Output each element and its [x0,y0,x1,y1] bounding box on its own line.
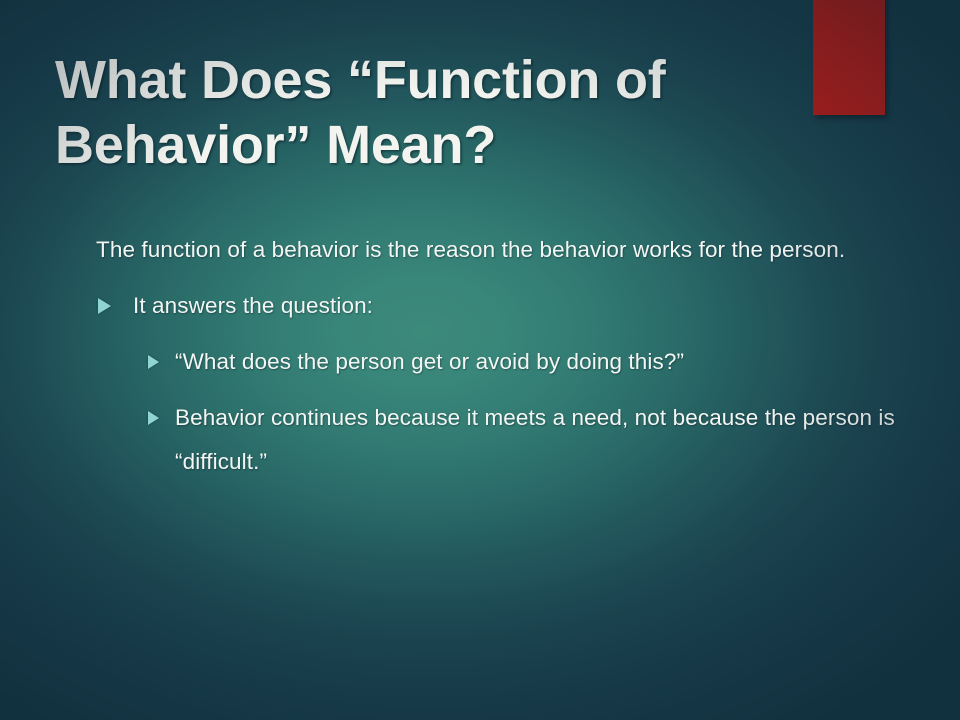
presentation-slide: What Does “Function of Behavior” Mean? T… [0,0,960,720]
triangle-bullet-icon [148,411,159,425]
bullet-text: It answers the question: [133,284,916,328]
bullet-item-what-does-person-get: “What does the person get or avoid by do… [148,340,916,384]
bullet-item-answers-question: It answers the question: [98,284,916,328]
slide-title: What Does “Function of Behavior” Mean? [55,48,815,178]
intro-paragraph: The function of a behavior is the reason… [96,228,916,272]
triangle-bullet-icon [98,298,111,314]
bullet-text: Behavior continues because it meets a ne… [175,396,916,484]
red-accent-rectangle [813,0,885,115]
triangle-bullet-icon [148,355,159,369]
bullet-text: “What does the person get or avoid by do… [175,340,916,384]
bullet-item-behavior-meets-need: Behavior continues because it meets a ne… [148,396,916,484]
slide-body: The function of a behavior is the reason… [96,228,916,484]
